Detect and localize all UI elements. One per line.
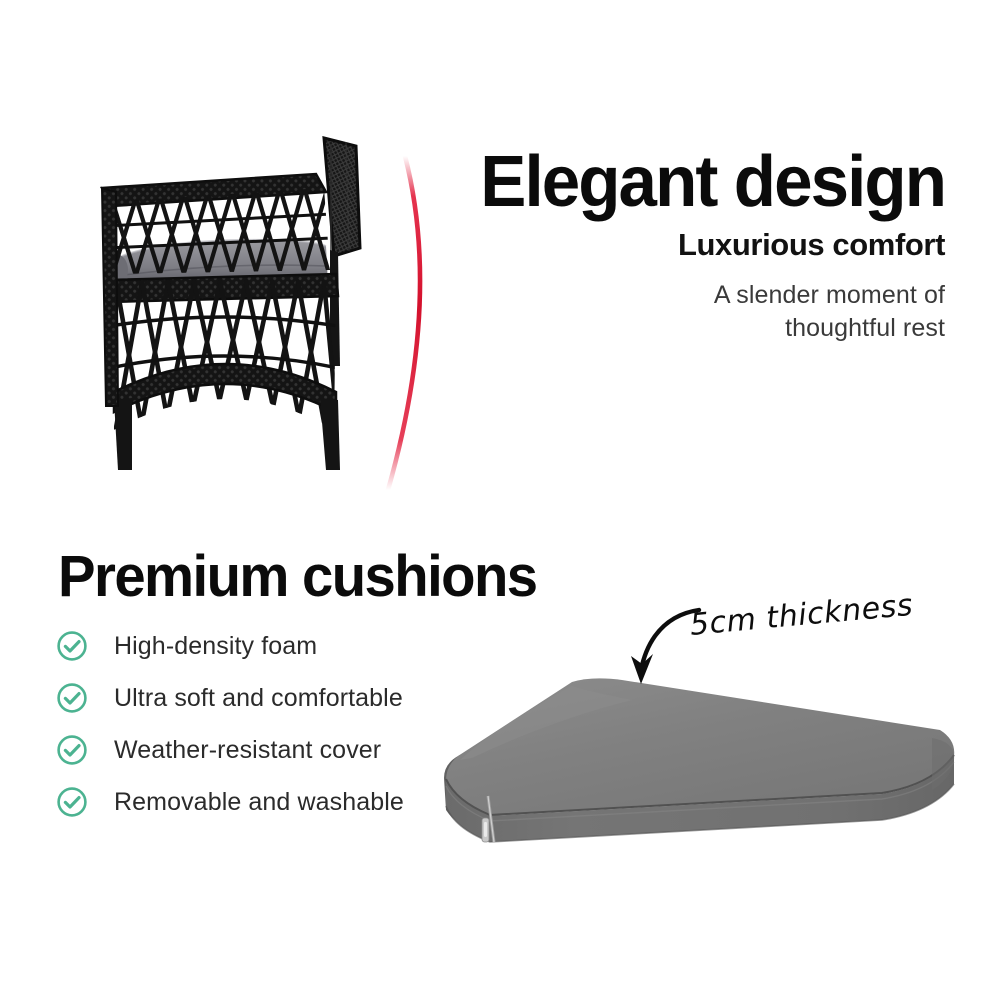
check-circle-icon (56, 734, 88, 766)
product-feature-graphic: Elegant design Luxurious comfort A slend… (0, 0, 1000, 1000)
luxurious-comfort-subhead: Luxurious comfort (425, 227, 945, 263)
tagline-line-1: A slender moment of (714, 281, 945, 309)
premium-cushions-headline: Premium cushions (58, 548, 537, 606)
check-circle-icon (56, 682, 88, 714)
tagline-line-2: thoughtful rest (785, 314, 945, 342)
feature-list: High-density foam Ultra soft and comfort… (56, 620, 456, 828)
chair-legs (114, 398, 340, 470)
elegant-design-section: Elegant design Luxurious comfort A slend… (0, 0, 1000, 520)
list-item: Removable and washable (56, 776, 456, 828)
elegant-design-tagline: A slender moment of thoughtful rest (425, 279, 945, 345)
list-item: High-density foam (56, 620, 456, 672)
premium-cushions-section: Premium cushions High-density foam Ultra… (0, 520, 1000, 1000)
feature-label: Removable and washable (114, 788, 404, 817)
check-circle-icon (56, 630, 88, 662)
feature-label: High-density foam (114, 632, 317, 661)
elegant-design-headline: Elegant design (446, 148, 945, 217)
list-item: Ultra soft and comfortable (56, 672, 456, 724)
list-item: Weather-resistant cover (56, 724, 456, 776)
elegant-design-text-block: Elegant design Luxurious comfort A slend… (425, 148, 945, 345)
check-circle-icon (56, 786, 88, 818)
feature-label: Weather-resistant cover (114, 736, 381, 765)
chair-lower-lattice (110, 282, 338, 430)
feature-label: Ultra soft and comfortable (114, 684, 403, 713)
